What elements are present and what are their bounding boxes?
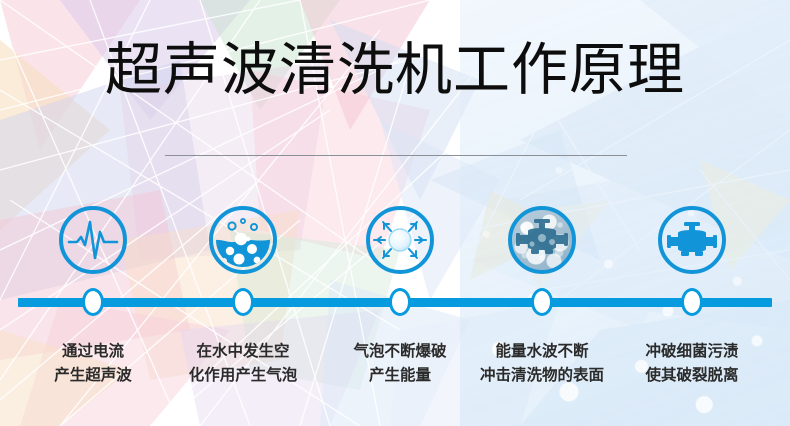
step-4-icon-circle[interactable] [508,206,576,274]
step-2-icon-circle[interactable] [209,206,277,274]
step-1-icon-circle[interactable] [59,206,127,274]
step-5-timeline-node[interactable] [681,288,703,316]
water-bubbles-icon [214,211,272,269]
dirty-valve-part-icon [515,213,569,267]
step-5-icon-circle[interactable] [658,206,726,274]
infographic-poster: 超声波清洗机工作原理 通过电流 产生超声波 [0,0,790,426]
page-title: 超声波清洗机工作原理 [0,40,790,100]
step-5-caption-line2: 使其破裂脱离 [597,364,787,388]
bubble-burst-arrows-icon [371,211,429,269]
step-3-icon-circle[interactable] [366,206,434,274]
step-4-timeline-node[interactable] [531,288,553,316]
step-5-caption-line1: 冲破细菌污渍 [597,340,787,364]
step-3-timeline-node[interactable] [389,288,411,316]
title-divider [165,155,627,156]
step-2-timeline-node[interactable] [232,288,254,316]
step-5-caption: 冲破细菌污渍 使其破裂脱离 [597,340,787,387]
step-1-timeline-node[interactable] [82,288,104,316]
clean-valve-part-icon [665,213,719,267]
pulse-waveform-icon [63,210,123,270]
